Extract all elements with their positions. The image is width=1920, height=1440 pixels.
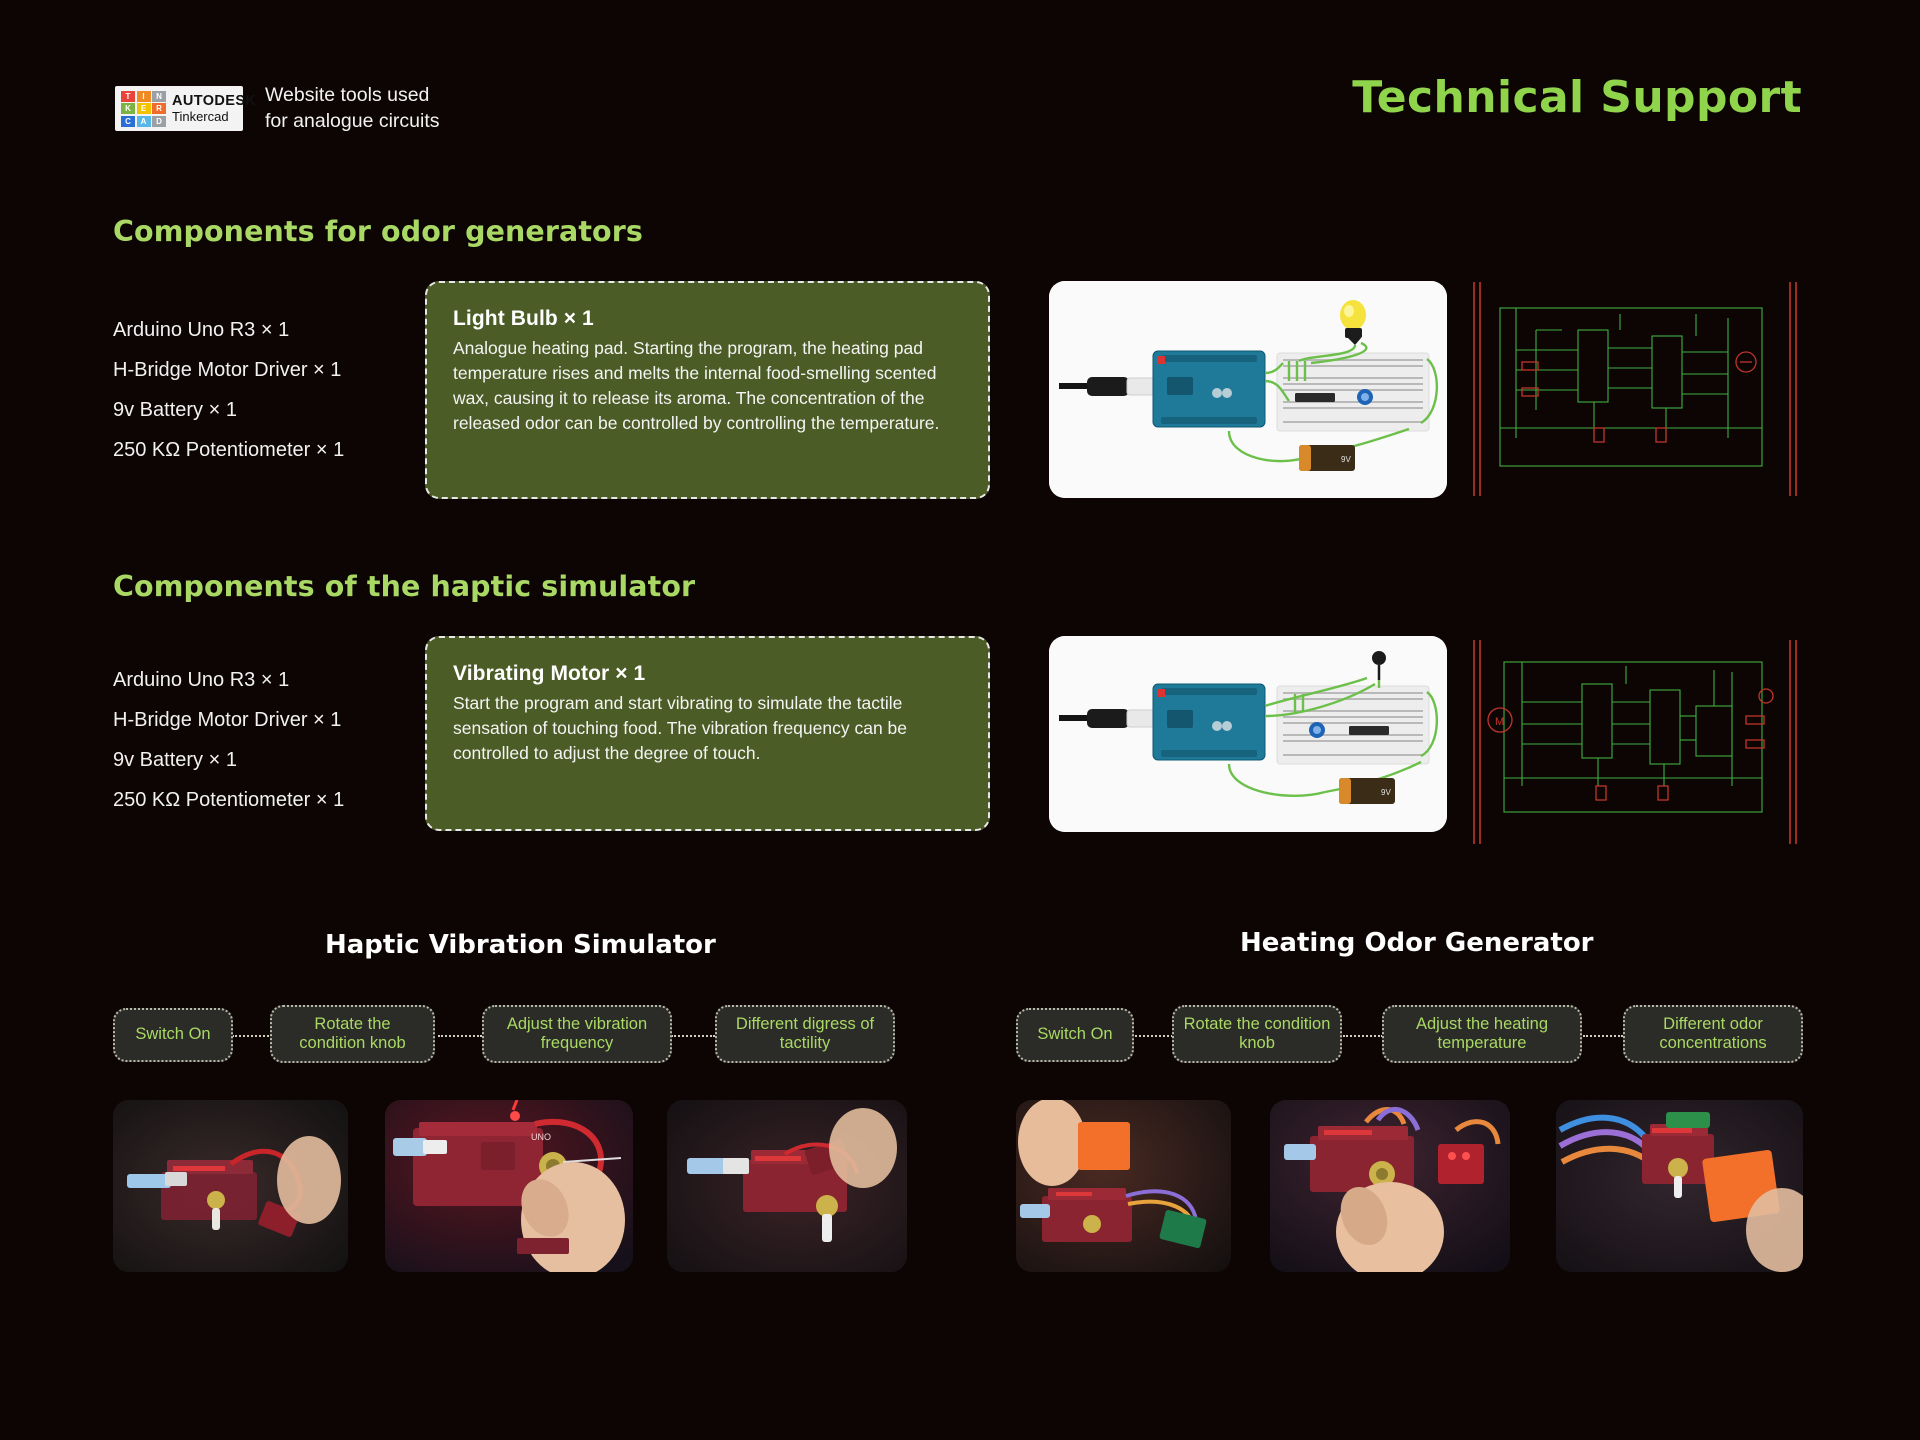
component-card-vibrating-motor: Vibrating Motor × 1 Start the program an… — [425, 636, 990, 831]
schematic-svg-odor — [1470, 278, 1800, 500]
logo-tinkercad-text: Tinkercad — [172, 110, 256, 124]
flow-connector — [438, 1035, 482, 1037]
photo-odor-2[interactable] — [1270, 1100, 1510, 1272]
logo-tile: R — [152, 103, 166, 114]
flow-step-haptic-1[interactable]: Switch On — [113, 1008, 233, 1062]
header-caption: Website tools used for analogue circuits — [265, 83, 440, 134]
section-heading-haptic: Components of the haptic simulator — [113, 570, 695, 603]
photo-haptic-2-svg: UNO — [385, 1100, 633, 1272]
svg-text:9V: 9V — [1381, 788, 1391, 797]
flow-connector — [1583, 1035, 1623, 1037]
flow-connector — [1135, 1035, 1173, 1037]
component-item: 9v Battery × 1 — [113, 740, 344, 780]
logo-tile: D — [152, 116, 166, 127]
flow-step-odor-2[interactable]: Rotate the condition knob — [1172, 1005, 1342, 1063]
flow-connector — [671, 1035, 715, 1037]
photo-haptic-1[interactable] — [113, 1100, 348, 1272]
logo-autodesk-text: AUTODESK — [172, 94, 256, 109]
flow-title-odor: Heating Odor Generator — [1240, 928, 1594, 958]
schematic-image-haptic: M — [1470, 636, 1800, 848]
card-title-qty: × 1 — [615, 662, 645, 685]
header-caption-line2: for analogue circuits — [265, 109, 440, 135]
logo-tile: I — [137, 91, 151, 102]
logo-tile: A — [137, 116, 151, 127]
logo-tile: E — [137, 103, 151, 114]
breadboard-image-odor: 9V — [1049, 281, 1447, 498]
component-item: Arduino Uno R3 × 1 — [113, 660, 344, 700]
flow-step-haptic-2[interactable]: Rotate the condition knob — [270, 1005, 435, 1063]
logo-wordmark: AUTODESK Tinkercad — [172, 94, 256, 123]
component-item: 9v Battery × 1 — [113, 390, 344, 430]
poster-root: T I N K E R C A D AUTODESK Tinkercad Web… — [0, 0, 1920, 1440]
schematic-image-odor — [1470, 278, 1800, 500]
card-title-qty: × 1 — [564, 307, 594, 330]
card-title: Vibrating Motor — [453, 662, 609, 685]
page-title: Technical Support — [1352, 72, 1802, 123]
component-list-odor: Arduino Uno R3 × 1 H-Bridge Motor Driver… — [113, 310, 344, 470]
card-title: Light Bulb — [453, 307, 558, 330]
flow-connector — [1343, 1035, 1383, 1037]
svg-text:M: M — [1495, 716, 1504, 728]
svg-text:9V: 9V — [1341, 455, 1351, 464]
component-item: H-Bridge Motor Driver × 1 — [113, 350, 344, 390]
schematic-svg-haptic: M — [1470, 636, 1800, 848]
photo-haptic-1-svg — [113, 1100, 348, 1272]
flow-step-haptic-4[interactable]: Different digress of tactility — [715, 1005, 895, 1063]
card-title-row: Vibrating Motor × 1 — [453, 662, 962, 686]
flow-step-odor-1[interactable]: Switch On — [1016, 1008, 1134, 1062]
logo-tile: K — [121, 103, 135, 114]
card-body: Start the program and start vibrating to… — [453, 691, 962, 766]
component-item: Arduino Uno R3 × 1 — [113, 310, 344, 350]
photo-haptic-3-svg — [667, 1100, 907, 1272]
card-title-row: Light Bulb × 1 — [453, 307, 962, 331]
photo-odor-2-svg — [1270, 1100, 1510, 1272]
component-list-haptic: Arduino Uno R3 × 1 H-Bridge Motor Driver… — [113, 660, 344, 820]
tinkercad-logo: T I N K E R C A D AUTODESK Tinkercad — [115, 86, 243, 131]
flow-connector — [232, 1035, 272, 1037]
tinkercad-logo-tiles: T I N K E R C A D — [121, 91, 166, 127]
component-item: 250 KΩ Potentiometer × 1 — [113, 430, 344, 470]
flow-step-haptic-3[interactable]: Adjust the vibration frequency — [482, 1005, 672, 1063]
logo-tile: T — [121, 91, 135, 102]
header-left: T I N K E R C A D AUTODESK Tinkercad Web… — [115, 83, 440, 134]
breadboard-svg-haptic: 9V — [1049, 636, 1447, 832]
header-caption-line1: Website tools used — [265, 83, 440, 109]
breadboard-svg-odor: 9V — [1049, 281, 1447, 498]
component-item: H-Bridge Motor Driver × 1 — [113, 700, 344, 740]
logo-tile: C — [121, 116, 135, 127]
flow-step-odor-3[interactable]: Adjust the heating temperature — [1382, 1005, 1582, 1063]
photo-haptic-2[interactable]: UNO — [385, 1100, 633, 1272]
flow-title-haptic: Haptic Vibration Simulator — [325, 930, 716, 960]
photo-odor-3[interactable] — [1556, 1100, 1803, 1272]
card-body: Analogue heating pad. Starting the progr… — [453, 336, 962, 435]
breadboard-image-haptic: 9V — [1049, 636, 1447, 832]
component-card-lightbulb: Light Bulb × 1 Analogue heating pad. Sta… — [425, 281, 990, 499]
flow-step-odor-4[interactable]: Different odor concentrations — [1623, 1005, 1803, 1063]
photo-odor-1[interactable] — [1016, 1100, 1231, 1272]
svg-text:UNO: UNO — [531, 1132, 551, 1142]
section-heading-odor: Components for odor generators — [113, 215, 643, 248]
logo-tile: N — [152, 91, 166, 102]
photo-odor-1-svg — [1016, 1100, 1231, 1272]
component-item: 250 KΩ Potentiometer × 1 — [113, 780, 344, 820]
photo-haptic-3[interactable] — [667, 1100, 907, 1272]
photo-odor-3-svg — [1556, 1100, 1803, 1272]
